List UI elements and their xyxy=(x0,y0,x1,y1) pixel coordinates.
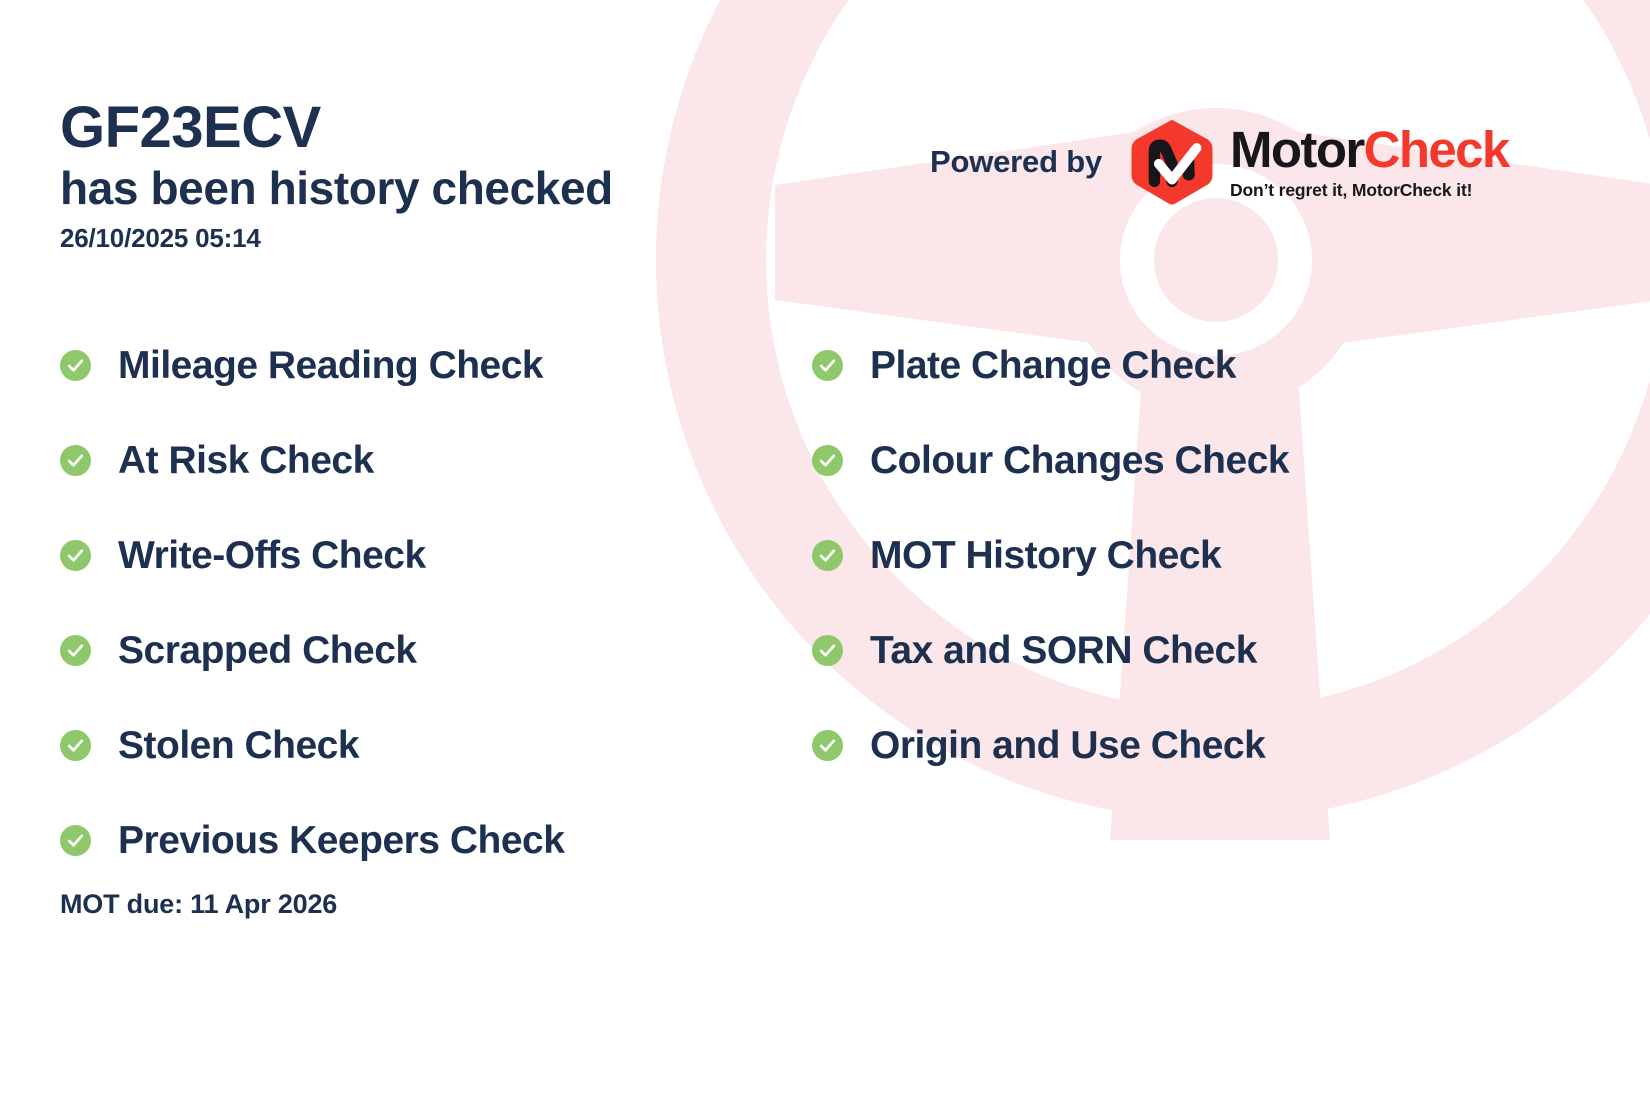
check-circle-icon xyxy=(60,350,91,381)
check-circle-icon xyxy=(812,635,843,666)
page-title: has been history checked xyxy=(60,163,613,215)
powered-by-label: Powered by xyxy=(930,144,1102,180)
wordmark-text: MotorCheck xyxy=(1230,124,1509,175)
check-item-tax-and-sorn: Tax and SORN Check xyxy=(812,603,1289,698)
check-item-label: Plate Change Check xyxy=(870,344,1236,388)
check-circle-icon xyxy=(812,730,843,761)
check-item-label: Previous Keepers Check xyxy=(118,819,564,863)
check-item-label: At Risk Check xyxy=(118,439,374,483)
check-item-mot-history: MOT History Check xyxy=(812,508,1289,603)
check-item-colour-changes: Colour Changes Check xyxy=(812,413,1289,508)
check-item-label: Scrapped Check xyxy=(118,629,417,673)
card-header: GF23ECV has been history checked 26/10/2… xyxy=(60,98,613,254)
mot-due-text: MOT due: 11 Apr 2026 xyxy=(60,889,337,920)
check-circle-icon xyxy=(60,730,91,761)
check-timestamp: 26/10/2025 05:14 xyxy=(60,223,613,254)
check-item-origin-and-use: Origin and Use Check xyxy=(812,698,1289,793)
check-item-label: MOT History Check xyxy=(870,534,1221,578)
check-item-label: Colour Changes Check xyxy=(870,439,1289,483)
check-item-mileage-reading: Mileage Reading Check xyxy=(60,318,564,413)
check-item-label: Stolen Check xyxy=(118,724,359,768)
checks-right-column: Plate Change Check Colour Changes Check … xyxy=(812,318,1289,793)
check-item-label: Origin and Use Check xyxy=(870,724,1265,768)
check-item-scrapped: Scrapped Check xyxy=(60,603,564,698)
check-circle-icon xyxy=(60,445,91,476)
check-circle-icon xyxy=(60,825,91,856)
check-circle-icon xyxy=(812,445,843,476)
motorcheck-hexagon-logo-icon xyxy=(1128,118,1216,206)
check-item-label: Write-Offs Check xyxy=(118,534,426,578)
check-circle-icon xyxy=(812,350,843,381)
powered-by-block: Powered by MotorCheck Don’t regret it, M… xyxy=(930,118,1509,206)
vehicle-registration: GF23ECV xyxy=(60,98,613,157)
check-circle-icon xyxy=(60,635,91,666)
check-circle-icon xyxy=(60,540,91,571)
motorcheck-logo[interactable]: MotorCheck Don’t regret it, MotorCheck i… xyxy=(1128,118,1509,206)
check-item-write-offs: Write-Offs Check xyxy=(60,508,564,603)
check-item-label: Tax and SORN Check xyxy=(870,629,1257,673)
check-item-label: Mileage Reading Check xyxy=(118,344,543,388)
check-item-at-risk: At Risk Check xyxy=(60,413,564,508)
checks-left-column: Mileage Reading Check At Risk Check Writ… xyxy=(60,318,564,888)
history-check-card: GF23ECV has been history checked 26/10/2… xyxy=(0,0,1650,1100)
check-item-stolen: Stolen Check xyxy=(60,698,564,793)
check-item-plate-change: Plate Change Check xyxy=(812,318,1289,413)
check-item-previous-keepers: Previous Keepers Check xyxy=(60,793,564,888)
check-circle-icon xyxy=(812,540,843,571)
wordmark-check: Check xyxy=(1364,121,1509,178)
motorcheck-wordmark: MotorCheck Don’t regret it, MotorCheck i… xyxy=(1230,124,1509,201)
logo-tagline: Don’t regret it, MotorCheck it! xyxy=(1230,180,1509,201)
wordmark-motor: Motor xyxy=(1230,121,1364,178)
